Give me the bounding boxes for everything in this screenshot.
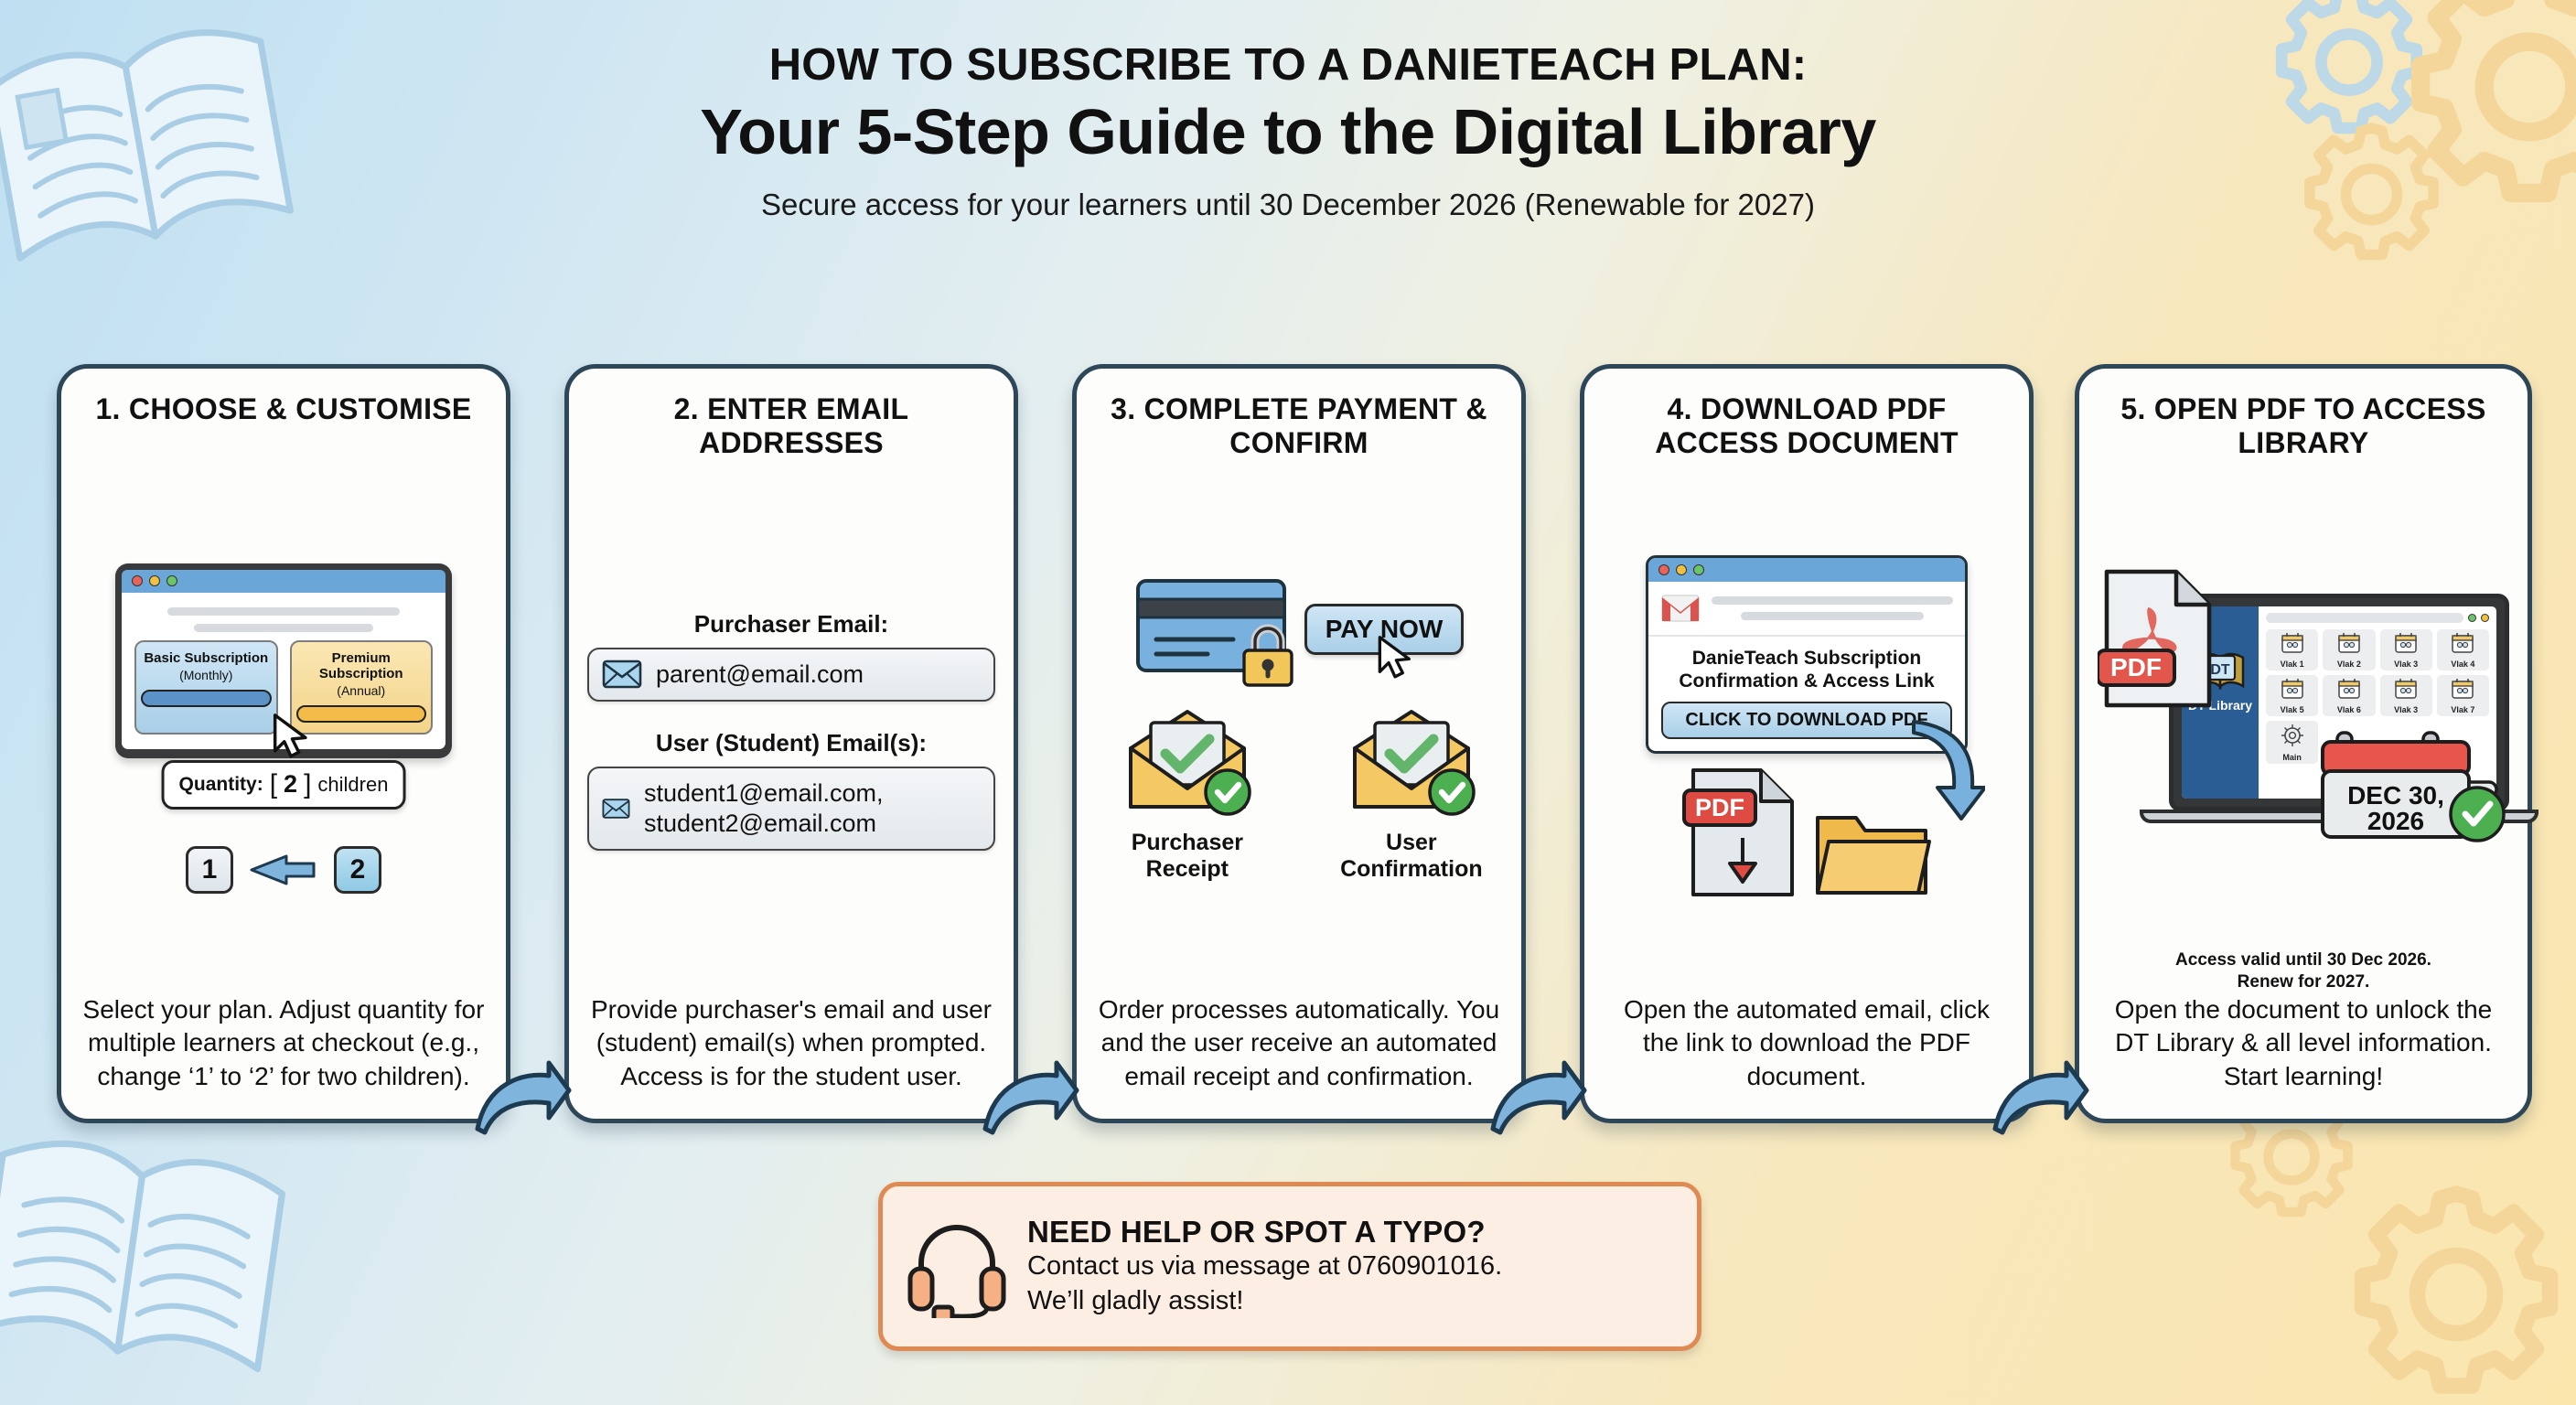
skeleton-line	[194, 624, 373, 632]
email-header-row	[1648, 582, 1965, 637]
step-2-description: Provide purchaser's email and user (stud…	[587, 993, 995, 1104]
steps-row: 1. CHOOSE & CUSTOMISE Basic Subscript	[0, 364, 2576, 1123]
library-tile-label: Vlak 3	[2381, 660, 2431, 669]
envelope-icon	[602, 660, 642, 689]
step-5-title: 5. OPEN PDF TO ACCESS LIBRARY	[2098, 392, 2509, 464]
bracket-open: [	[270, 769, 277, 800]
bracket-close: ]	[304, 769, 311, 800]
window-close-dot	[1658, 564, 1669, 575]
headset-icon	[907, 1216, 1007, 1318]
browser-url-bar	[2266, 613, 2489, 623]
purchaser-receipt-item: Purchaser Receipt	[1095, 701, 1280, 884]
quantity-unit: children	[317, 773, 388, 797]
envelope-check-icon	[1118, 701, 1257, 818]
check-circle-icon	[2447, 784, 2507, 844]
quantity-value: 2	[284, 770, 297, 799]
quantity-from: 1	[186, 846, 233, 894]
calendar-line2: 2026	[2367, 807, 2424, 835]
purchaser-email-label: Purchaser Email:	[587, 610, 995, 638]
browser-mockup: Basic Subscription (Monthly) Premium Sub…	[115, 563, 452, 759]
step-card-2[interactable]: 2. ENTER EMAIL ADDRESSES Purchaser Email…	[564, 364, 1018, 1123]
step-4-description: Open the automated email, click the link…	[1603, 993, 2011, 1104]
help-text-block: NEED HELP OR SPOT A TYPO? Contact us via…	[1027, 1215, 1502, 1317]
window-minimize-dot	[149, 575, 160, 586]
window-maximize-dot	[166, 575, 177, 586]
library-tile[interactable]: Vlak 3	[2380, 629, 2432, 670]
cursor-icon	[1376, 635, 1414, 681]
skeleton-line	[167, 607, 400, 616]
connector-arrow-2	[980, 1059, 1080, 1136]
library-tile[interactable]: Vlak 3	[2380, 675, 2432, 716]
library-tile-label: Main	[2267, 753, 2317, 762]
access-validity-note: Access valid until 30 Dec 2026. Renew fo…	[2175, 949, 2431, 993]
library-tile-label: Vlak 5	[2267, 705, 2317, 714]
quantity-change-row: 1 2	[186, 846, 381, 894]
step-card-4[interactable]: 4. DOWNLOAD PDF ACCESS DOCUMENT	[1580, 364, 2034, 1123]
connector-arrow-3	[1487, 1059, 1588, 1136]
plan-name: Premium Subscription	[296, 650, 427, 682]
quantity-to: 2	[334, 846, 381, 894]
step-5-artwork: DT DT Library Vlak 1Vlak 2Vlak	[2098, 464, 2509, 942]
browser-titlebar	[122, 570, 445, 593]
level-icon	[2394, 632, 2418, 654]
email-window-titlebar	[1648, 558, 1965, 582]
envelope-icon	[602, 794, 630, 823]
plan-billing: (Monthly)	[141, 668, 272, 682]
step-3-title: 3. COMPLETE PAYMENT & CONFIRM	[1095, 392, 1503, 464]
purchaser-email-value: parent@email.com	[656, 660, 864, 690]
step-4-title: 4. DOWNLOAD PDF ACCESS DOCUMENT	[1603, 392, 2011, 464]
page-subtitle: Secure access for your learners until 30…	[0, 188, 2576, 222]
cursor-icon	[271, 713, 311, 760]
level-icon	[2451, 632, 2474, 654]
library-tile-label: Vlak 2	[2324, 660, 2374, 669]
purchaser-email-field[interactable]: parent@email.com	[587, 648, 995, 702]
help-title: NEED HELP OR SPOT A TYPO?	[1027, 1215, 1502, 1249]
skeleton-line	[1741, 612, 1925, 620]
envelope-check-icon	[1342, 701, 1481, 818]
level-icon	[2451, 678, 2474, 700]
library-tile[interactable]: Main	[2266, 721, 2318, 764]
connector-arrow-4	[1990, 1059, 2090, 1136]
student-email-value: student1@email.com, student2@email.com	[644, 778, 981, 839]
page-header: HOW TO SUBSCRIBE TO A DANIETEACH PLAN: Y…	[0, 40, 2576, 222]
svg-text:PDF: PDF	[1695, 794, 1744, 821]
window-minimize-dot	[1676, 564, 1687, 575]
plan-select-button[interactable]	[141, 690, 272, 707]
gear-icon	[2281, 724, 2304, 747]
window-maximize-dot	[1693, 564, 1704, 575]
library-tile[interactable]: Vlak 4	[2437, 629, 2489, 670]
calendar-line1: DEC 30,	[2347, 781, 2444, 810]
step-1-description: Select your plan. Adjust quantity for mu…	[80, 993, 488, 1104]
plan-select-button[interactable]	[296, 705, 427, 723]
library-tile-label: Vlak 4	[2438, 660, 2488, 669]
level-icon	[2281, 678, 2304, 700]
connector-arrow-1	[472, 1059, 573, 1136]
library-tile[interactable]: Vlak 7	[2437, 675, 2489, 716]
step-2-title: 2. ENTER EMAIL ADDRESSES	[587, 392, 995, 464]
library-tile-label: Vlak 3	[2381, 705, 2431, 714]
library-tile-label: Vlak 7	[2438, 705, 2488, 714]
level-icon	[2337, 632, 2361, 654]
open-book-icon-2	[0, 1089, 302, 1400]
library-tile[interactable]: Vlak 6	[2323, 675, 2375, 716]
step-5-description: Open the document to unlock the DT Libra…	[2098, 993, 2509, 1104]
lock-icon	[1235, 617, 1301, 689]
step-3-artwork: PAY NOW	[1095, 464, 1503, 993]
quantity-callout: Quantity: [ 2 ] children	[162, 760, 406, 810]
level-icon	[2394, 678, 2418, 700]
help-line-1: Contact us via message at 0760901016.	[1027, 1249, 1502, 1283]
gmail-icon	[1660, 593, 1701, 624]
status-dot-yellow	[2481, 614, 2489, 622]
confirmation-row: Purchaser Receipt User Confirmation	[1095, 701, 1503, 884]
page-title: Your 5-Step Guide to the Digital Library	[0, 96, 2576, 167]
validity-line-1: Access valid until 30 Dec 2026.	[2175, 950, 2431, 970]
arrow-right-icon	[250, 852, 317, 888]
step-1-artwork: Basic Subscription (Monthly) Premium Sub…	[80, 464, 488, 993]
level-icon	[2281, 632, 2304, 654]
help-banner[interactable]: NEED HELP OR SPOT A TYPO? Contact us via…	[878, 1182, 1701, 1351]
curved-arrow-down-icon	[1906, 716, 1985, 826]
plan-billing: (Annual)	[296, 683, 427, 698]
library-tile[interactable]: Vlak 1	[2266, 629, 2318, 670]
email-subject: DanieTeach Subscription Confirmation & A…	[1648, 637, 1965, 701]
step-2-artwork: Purchaser Email: parent@email.com User (…	[587, 464, 995, 993]
pdf-to-folder-row: PDF	[1682, 765, 1931, 902]
user-confirmation-caption: User Confirmation	[1320, 830, 1503, 884]
status-dot-green	[2468, 614, 2476, 622]
library-tile-label: Vlak 6	[2324, 705, 2374, 714]
gear-icon-amber-br1	[2342, 1180, 2571, 1405]
library-tile-label: Vlak 1	[2267, 660, 2317, 669]
step-card-3[interactable]: 3. COMPLETE PAYMENT & CONFIRM	[1072, 364, 1526, 1123]
step-3-description: Order processes automatically. You and t…	[1095, 993, 1503, 1104]
purchaser-receipt-caption: Purchaser Receipt	[1095, 830, 1280, 884]
library-tile[interactable]: Vlak 2	[2323, 629, 2375, 670]
step-card-5[interactable]: 5. OPEN PDF TO ACCESS LIBRARY DT	[2075, 364, 2532, 1123]
email-skeleton-lines	[1712, 596, 1953, 620]
user-confirmation-item: User Confirmation	[1320, 701, 1503, 884]
step-4-artwork: DanieTeach Subscription Confirmation & A…	[1603, 464, 2011, 993]
student-email-label: User (Student) Email(s):	[587, 729, 995, 757]
page-kicker: HOW TO SUBSCRIBE TO A DANIETEACH PLAN:	[0, 40, 2576, 91]
step-1-title: 1. CHOOSE & CUSTOMISE	[95, 392, 471, 464]
library-tile[interactable]: Vlak 5	[2266, 675, 2318, 716]
student-email-field[interactable]: student1@email.com, student2@email.com	[587, 767, 995, 851]
pdf-badge-text: PDF	[2110, 653, 2162, 681]
plan-option-basic[interactable]: Basic Subscription (Monthly)	[134, 640, 278, 735]
window-close-dot	[132, 575, 143, 586]
help-line-2: We’ll gladly assist!	[1027, 1284, 1502, 1318]
skeleton-line	[1712, 596, 1953, 605]
pdf-file-icon: PDF	[2098, 566, 2220, 713]
pdf-file-icon: PDF	[1682, 765, 1803, 902]
library-mockup-wrap: DT DT Library Vlak 1Vlak 2Vlak	[2098, 566, 2509, 841]
step-card-1[interactable]: 1. CHOOSE & CUSTOMISE Basic Subscript	[57, 364, 510, 1123]
plan-name: Basic Subscription	[141, 650, 272, 666]
validity-line-2: Renew for 2027.	[2238, 972, 2370, 992]
level-icon	[2337, 678, 2361, 700]
payment-row: PAY NOW	[1095, 574, 1503, 684]
quantity-label: Quantity:	[179, 774, 263, 796]
